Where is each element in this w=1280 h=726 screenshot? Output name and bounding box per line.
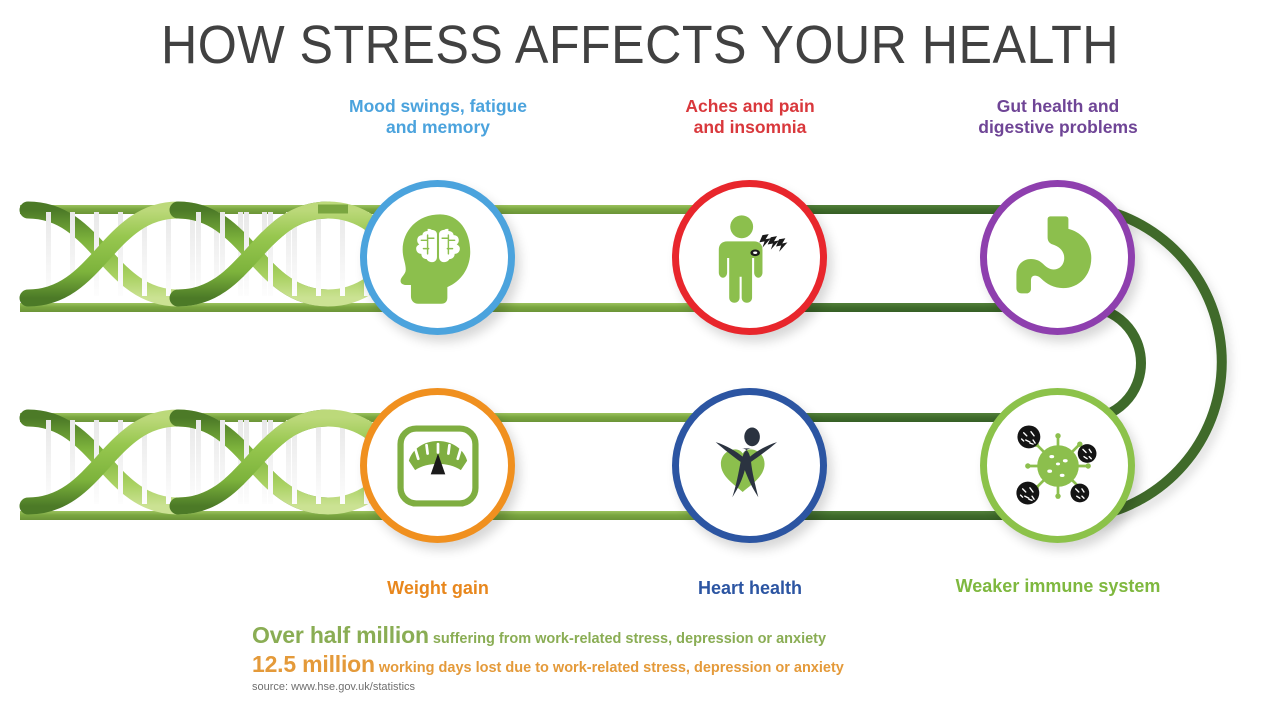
label-aches: Aches and pain and insomnia xyxy=(630,96,870,137)
label-heart: Heart health xyxy=(630,578,870,599)
text-layer: Mood swings, fatigue and memory Aches an… xyxy=(0,0,1280,726)
label-weight: Weight gain xyxy=(308,578,568,599)
label-gut: Gut health and digestive problems xyxy=(928,96,1188,137)
statistic-row: 12.5 million working days lost due to wo… xyxy=(252,651,1152,678)
source-citation: source: www.hse.gov.uk/statistics xyxy=(252,681,415,693)
stat-text: suffering from work-related stress, depr… xyxy=(429,631,826,647)
stat-highlight: 12.5 million xyxy=(252,651,375,677)
statistics-block: Over half million suffering from work-re… xyxy=(252,622,1152,680)
label-immune: Weaker immune system xyxy=(918,576,1198,597)
infographic-canvas: HOW STRESS AFFECTS YOUR HEALTH xyxy=(0,0,1280,726)
stat-highlight: Over half million xyxy=(252,622,429,648)
stat-text: working days lost due to work-related st… xyxy=(375,660,844,676)
label-mood: Mood swings, fatigue and memory xyxy=(308,96,568,137)
statistic-row: Over half million suffering from work-re… xyxy=(252,622,1152,649)
